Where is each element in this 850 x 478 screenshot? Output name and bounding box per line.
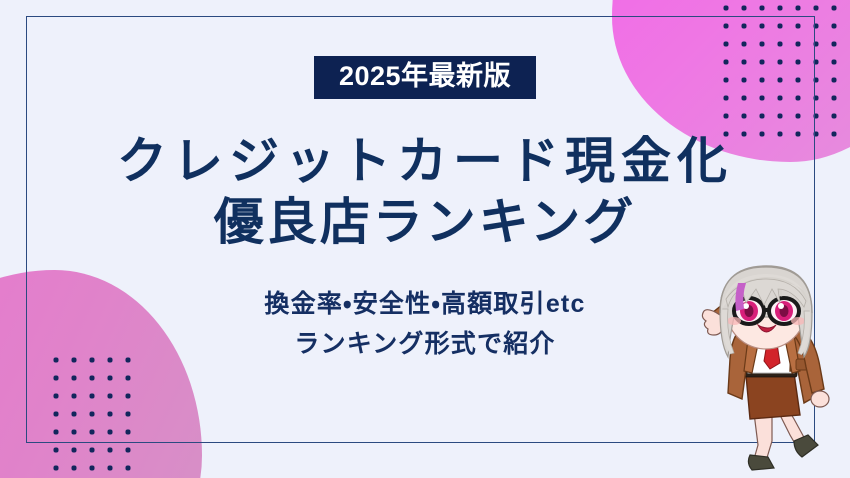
page-title-line-1: クレジットカード現金化 <box>117 131 733 192</box>
page-title: クレジットカード現金化 優良店ランキング <box>117 131 733 252</box>
page-subtitle: 換金率・安全性・高額取引etc ランキング形式で紹介 <box>264 285 585 364</box>
year-badge: 2025年最新版 <box>314 56 536 99</box>
page-subtitle-line-2: ランキング形式で紹介 <box>264 325 585 365</box>
page-title-line-2: 優良店ランキング <box>117 192 733 253</box>
promo-banner: 2025年最新版 クレジットカード現金化 優良店ランキング 換金率・安全性・高額… <box>0 0 850 478</box>
banner-content: 2025年最新版 クレジットカード現金化 優良店ランキング 換金率・安全性・高額… <box>0 0 850 478</box>
page-subtitle-line-1: 換金率・安全性・高額取引etc <box>264 285 585 325</box>
